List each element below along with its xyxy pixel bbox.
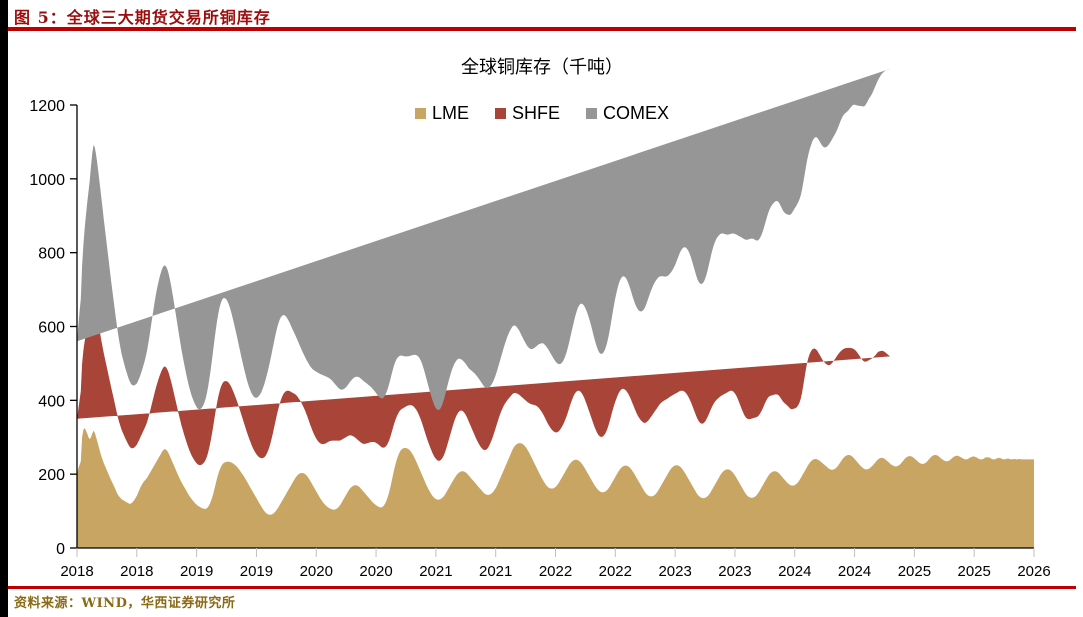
area-comex [77, 69, 890, 410]
footer-divider-rule [8, 586, 1076, 589]
x-tick-label: 2025 [958, 563, 991, 580]
y-tick-label: 400 [38, 393, 65, 410]
x-tick-labels: 2018201820192019202020202021202120222022… [60, 548, 1050, 580]
x-tick-label: 2023 [718, 563, 751, 580]
x-tick-label: 2024 [838, 563, 871, 580]
x-tick-label: 2019 [180, 563, 213, 580]
y-tick-label: 1200 [29, 98, 65, 115]
figure-source: 资料来源：WIND，华西证券研究所 [14, 592, 235, 611]
x-tick-label: 2024 [778, 563, 811, 580]
x-tick-label: 2020 [359, 563, 392, 580]
x-tick-label: 2020 [300, 563, 333, 580]
left-edge-bar [0, 0, 8, 617]
y-tick-label: 1000 [29, 172, 65, 189]
x-tick-label: 2018 [120, 563, 153, 580]
x-tick-label: 2022 [539, 563, 572, 580]
chart-container: 全球铜库存（千吨） LME SHFE COMEX 020040060080010… [8, 31, 1076, 586]
x-tick-label: 2019 [240, 563, 273, 580]
plot-area: 020040060080010001200 201820182019201920… [8, 31, 1076, 586]
y-tick-label: 800 [38, 246, 65, 263]
x-tick-label: 2021 [419, 563, 452, 580]
area-lme [77, 428, 1034, 548]
figure-title: 图 5：全球三大期货交易所铜库存 [14, 4, 271, 28]
x-tick-label: 2026 [1017, 563, 1050, 580]
y-tick-label: 200 [38, 467, 65, 484]
y-tick-label: 0 [56, 541, 65, 558]
x-tick-label: 2022 [599, 563, 632, 580]
x-tick-label: 2021 [479, 563, 512, 580]
y-tick-label: 600 [38, 320, 65, 337]
x-tick-label: 2023 [658, 563, 691, 580]
y-tick-labels: 020040060080010001200 [29, 98, 65, 558]
area-series-group [77, 69, 1034, 548]
x-tick-label: 2025 [898, 563, 931, 580]
x-tick-label: 2018 [60, 563, 93, 580]
stacked-area-chart: 020040060080010001200 201820182019201920… [8, 31, 1076, 586]
